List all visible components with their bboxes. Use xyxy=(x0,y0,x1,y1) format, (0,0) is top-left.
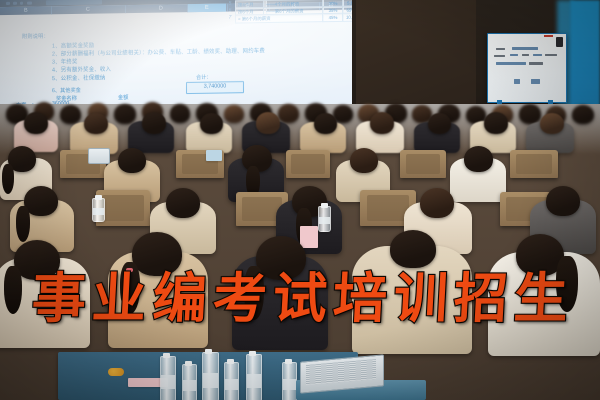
water-bottle xyxy=(202,352,219,400)
water-bottle xyxy=(160,356,176,400)
total-value-box: 3,740000 xyxy=(186,81,244,94)
cell-f7[interactable]: = 第6个月的薪资 xyxy=(235,13,324,23)
total-label: 合计： xyxy=(196,73,212,80)
headline-char-4: 考 xyxy=(211,270,268,328)
slide-line-5: 5、公积金、社保缴纳 xyxy=(52,73,106,82)
promo-headline-overlay: 事 业 编 考 试 培 训 招 生 xyxy=(32,268,568,330)
whiteboard-marker-red xyxy=(544,35,553,37)
headline-char-9: 生 xyxy=(512,270,569,328)
col-header-b[interactable]: C xyxy=(52,5,124,14)
slide-sub-heading: 6、其他奖金 xyxy=(52,87,81,95)
headline-char-5: 试 xyxy=(271,270,328,328)
formula-bar[interactable] xyxy=(46,0,102,5)
screenshot-canvas: B C D E F G H I J K L M 5 6 7 按4个月 ——4个月… xyxy=(0,0,600,400)
snack-food xyxy=(108,368,124,376)
cell-i7-percent[interactable]: 45% xyxy=(322,13,344,22)
water-bottle xyxy=(224,362,239,400)
water-bottle xyxy=(182,364,197,400)
water-bottle xyxy=(318,206,331,232)
handout-pink xyxy=(300,226,318,248)
headline-char-8: 招 xyxy=(452,270,509,328)
headline-char-3: 编 xyxy=(151,270,208,328)
headline-char-2: 业 xyxy=(91,270,148,328)
slide-table-label-amount: 金额 xyxy=(118,94,128,101)
whiteboard xyxy=(487,33,567,103)
slide-data-table: 5 6 7 按4个月 ——4个月的薪资 30% 5,0%30 按6个月 ——第6… xyxy=(226,0,365,23)
whiteboard-eraser xyxy=(556,37,563,47)
tablet-screen xyxy=(206,150,222,161)
headline-char-1: 事 xyxy=(30,270,87,328)
water-bottle xyxy=(246,354,262,400)
headline-char-7: 训 xyxy=(392,270,449,328)
laptop-screen-far xyxy=(88,148,110,164)
headline-char-6: 培 xyxy=(332,270,389,328)
col-header-d-selected[interactable]: E xyxy=(188,4,226,13)
col-header-c[interactable]: D xyxy=(126,4,196,13)
water-bottle xyxy=(282,362,297,400)
col-header-a[interactable]: B xyxy=(2,6,50,15)
water-bottle xyxy=(92,198,105,222)
row-number-7: 7 xyxy=(226,15,234,22)
slide-section-label: 附则说明： xyxy=(22,33,49,40)
